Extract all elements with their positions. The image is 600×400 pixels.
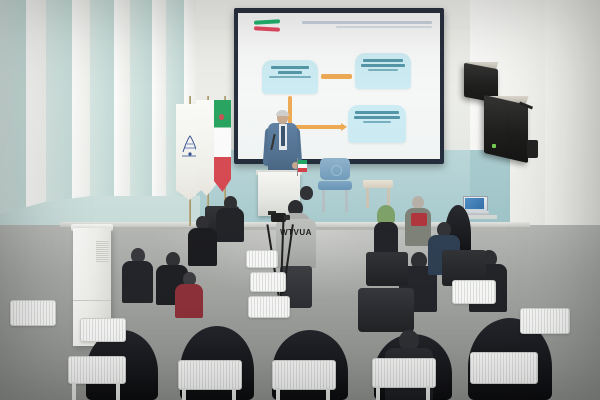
white-chair-3-leg	[276, 388, 280, 400]
slide-flag-mark-green	[254, 19, 280, 24]
attendee-suit-4-head	[300, 186, 313, 200]
ac-seam	[73, 300, 111, 301]
white-chair-8[interactable]	[10, 300, 56, 326]
white-chair-12[interactable]	[246, 250, 278, 268]
ac-grill	[96, 240, 109, 262]
wall-speaker-mount	[527, 140, 538, 158]
blue-visitor-chair-emblem	[331, 165, 342, 176]
control-laptop-display	[465, 198, 484, 209]
slide-node-right	[355, 53, 411, 89]
speaker-tie	[281, 126, 285, 146]
dark-chair-2[interactable]	[366, 252, 408, 286]
slide-node-main	[262, 60, 318, 94]
white-chair-2[interactable]	[178, 360, 242, 390]
iran-flag-emblem	[219, 114, 224, 120]
iran-flag	[214, 100, 231, 192]
attendee-dark-1-body	[216, 208, 244, 242]
blue-visitor-chair-leg-left	[322, 190, 325, 212]
slide-connector-horizontal	[321, 74, 352, 79]
slide-node-bottom	[348, 105, 406, 143]
white-chair-6[interactable]	[80, 318, 126, 342]
blue-visitor-chair-leg-right	[345, 190, 348, 212]
white-chair-7[interactable]	[248, 296, 290, 318]
side-table-leg-left	[366, 188, 369, 208]
white-chair-3[interactable]	[272, 360, 336, 390]
slide-flag-mark-red	[254, 26, 280, 31]
white-chair-2-leg	[182, 388, 186, 400]
white-chair-4-leg	[376, 386, 380, 400]
side-table	[363, 180, 393, 188]
slide-arrow-head	[341, 123, 347, 131]
blue-visitor-chair-seat	[318, 181, 352, 190]
dark-chair-4[interactable]	[358, 288, 414, 332]
attendee-red-scarf	[411, 213, 427, 226]
attendee-dark-4-body	[122, 261, 153, 303]
attendee-dark-2-body	[188, 228, 217, 266]
attendee-hijab-green-body	[374, 222, 398, 256]
wall-speaker-led	[492, 144, 496, 148]
white-chair-4[interactable]	[372, 358, 436, 388]
slide-header-text	[302, 21, 432, 28]
conference-hall-photo: WTVUA	[0, 0, 600, 400]
white-chair-11[interactable]	[520, 308, 570, 334]
white-chair-4-leg-right	[426, 386, 430, 400]
white-chair-9[interactable]	[452, 280, 496, 304]
white-chair-2-leg-right	[232, 388, 236, 400]
white-chair-1-leg-right	[116, 382, 120, 400]
white-chair-5[interactable]	[470, 352, 538, 384]
camera-lens-icon	[284, 215, 290, 220]
white-chair-10[interactable]	[250, 272, 286, 292]
white-chair-1-leg	[72, 382, 76, 400]
iran-desk-flag	[298, 160, 307, 172]
white-chair-1[interactable]	[68, 356, 126, 384]
white-chair-3-leg-right	[326, 388, 330, 400]
attendee-child-body	[175, 284, 203, 318]
speaker-hair	[276, 110, 289, 116]
